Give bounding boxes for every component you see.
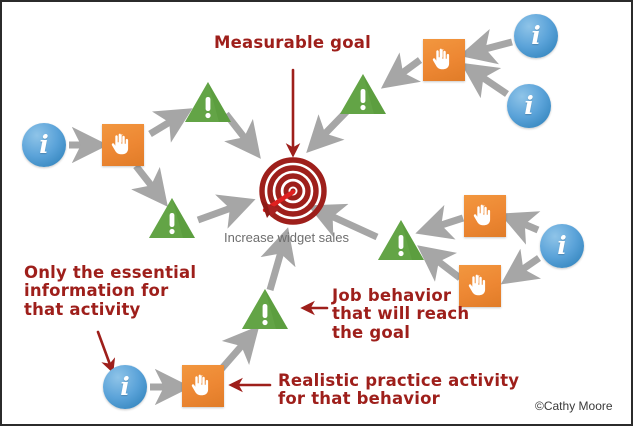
annotation-job-behavior: Job behavior that will reach the goal: [332, 287, 469, 342]
info-circle-icon[interactable]: i: [540, 224, 584, 268]
info-glyph: i: [531, 23, 541, 48]
hand-icon[interactable]: [102, 124, 144, 166]
bullseye-target-icon[interactable]: [255, 157, 327, 229]
info-glyph: i: [39, 132, 49, 157]
warning-triangle-icon[interactable]: [240, 287, 290, 331]
hand-icon[interactable]: [464, 195, 506, 237]
target-caption: Increase widget sales: [224, 230, 349, 245]
info-circle-icon[interactable]: i: [103, 365, 147, 409]
info-glyph: i: [524, 93, 534, 118]
info-glyph: i: [120, 374, 130, 399]
hand-icon[interactable]: [423, 39, 465, 81]
annotation-measurable-goal: Measurable goal: [214, 34, 371, 52]
warning-triangle-icon[interactable]: [183, 80, 233, 124]
hand-icon[interactable]: [182, 365, 224, 407]
annotation-realistic-practice: Realistic practice activity for that beh…: [278, 372, 519, 409]
warning-triangle-icon[interactable]: [376, 218, 426, 262]
diagram-canvas: i i i: [0, 0, 633, 426]
warning-triangle-icon[interactable]: [338, 72, 388, 116]
info-circle-icon[interactable]: i: [507, 84, 551, 128]
warning-triangle-icon[interactable]: [147, 196, 197, 240]
copyright-credit: ©Cathy Moore: [535, 399, 613, 413]
info-circle-icon[interactable]: i: [22, 123, 66, 167]
info-glyph: i: [557, 233, 567, 258]
info-circle-icon[interactable]: i: [514, 14, 558, 58]
annotation-essential-information: Only the essential information for that …: [24, 264, 196, 319]
